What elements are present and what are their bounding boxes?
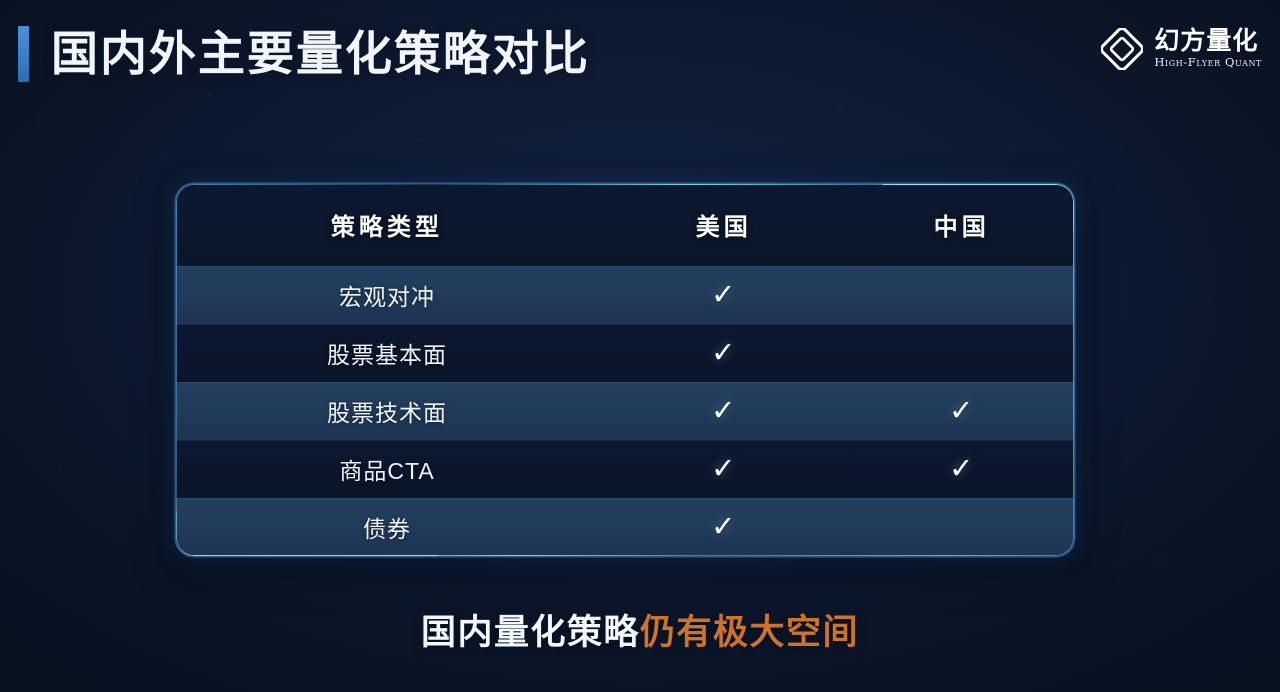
table-body: 宏观对冲 ✓ 股票基本面 ✓ 股票技术面 ✓ ✓ 商品CTA ✓ ✓	[176, 266, 1074, 556]
caption-highlight-text: 仍有极大空间	[640, 613, 859, 652]
cell-cn	[849, 266, 1074, 324]
cell-strategy-name: 股票基本面	[176, 324, 598, 382]
brand-name-en: High-Flyer Quant	[1154, 55, 1262, 69]
cell-cn: ✓	[849, 382, 1074, 440]
slide-caption: 国内量化策略仍有极大空间	[0, 604, 1280, 655]
table-row: 债券 ✓	[176, 498, 1074, 556]
cell-us: ✓	[598, 266, 849, 324]
brand-logo-text: 幻方量化 High-Flyer Quant	[1154, 28, 1262, 70]
check-icon: ✓	[949, 397, 974, 426]
column-header-cn: 中国	[849, 184, 1074, 266]
slide-canvas: 国内外主要量化策略对比 幻方量化 High-Flyer Quant 策略类型 美…	[0, 0, 1280, 692]
cell-cn	[849, 498, 1074, 556]
brand-name-cn: 幻方量化	[1154, 28, 1258, 54]
column-header-strategy-type: 策略类型	[176, 184, 598, 266]
table-row: 商品CTA ✓ ✓	[176, 440, 1074, 498]
cell-strategy-name: 宏观对冲	[176, 266, 598, 324]
check-icon: ✓	[711, 281, 736, 310]
check-icon: ✓	[711, 397, 736, 426]
title-accent-bar	[18, 26, 29, 82]
check-icon: ✓	[711, 455, 736, 484]
brand-logo: 幻方量化 High-Flyer Quant	[1101, 28, 1262, 70]
cell-strategy-name: 商品CTA	[176, 440, 598, 498]
cell-cn: ✓	[849, 440, 1074, 498]
column-header-us: 美国	[598, 184, 849, 266]
cell-us: ✓	[598, 498, 849, 556]
table-row: 股票基本面 ✓	[176, 324, 1074, 382]
caption-lead-text: 国内量化策略	[421, 613, 640, 652]
check-icon: ✓	[949, 455, 974, 484]
cell-strategy-name: 债券	[176, 498, 598, 556]
cell-us: ✓	[598, 382, 849, 440]
table-row: 宏观对冲 ✓	[176, 266, 1074, 324]
page-title-block: 国内外主要量化策略对比	[18, 26, 590, 82]
table-header-row: 策略类型 美国 中国	[176, 184, 1074, 266]
cell-cn	[849, 324, 1074, 382]
comparison-table-card: 策略类型 美国 中国 宏观对冲 ✓ 股票基本面 ✓ 股票技术面	[176, 184, 1074, 556]
cell-strategy-name: 股票技术面	[176, 382, 598, 440]
page-title: 国内外主要量化策略对比	[51, 31, 590, 78]
strategy-comparison-table: 策略类型 美国 中国 宏观对冲 ✓ 股票基本面 ✓ 股票技术面	[176, 184, 1074, 556]
check-icon: ✓	[711, 339, 736, 368]
check-icon: ✓	[711, 513, 736, 542]
diamond-rhombus-logo-icon	[1101, 28, 1143, 70]
cell-us: ✓	[598, 440, 849, 498]
table-row: 股票技术面 ✓ ✓	[176, 382, 1074, 440]
cell-us: ✓	[598, 324, 849, 382]
